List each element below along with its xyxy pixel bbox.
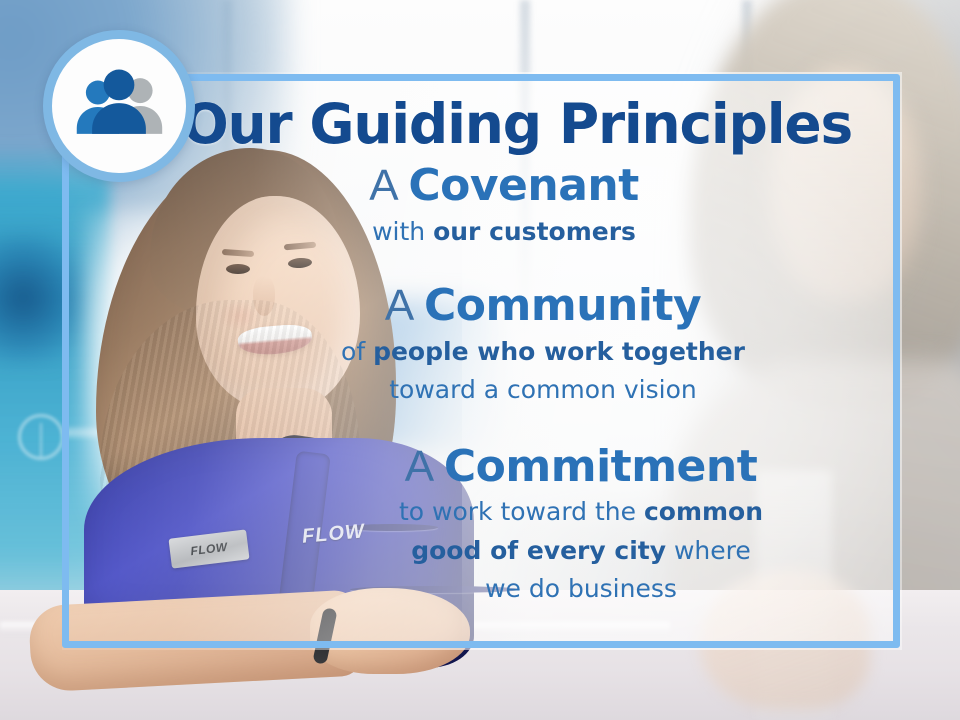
- principle-headline: A Commitment: [308, 443, 854, 491]
- principles-content: Our Guiding Principles A Covenant with o…: [62, 74, 900, 648]
- principle-detail-line: we do business: [308, 573, 854, 606]
- principle-detail-line: with our customers: [154, 216, 854, 249]
- principle-block-community: A Community of people who work together …: [62, 282, 854, 407]
- detail-text-emphasis: good of every city: [411, 536, 666, 565]
- principle-keyword: Covenant: [408, 160, 638, 211]
- principle-detail-line: of people who work together: [232, 336, 854, 369]
- guiding-principles-graphic: FLOW FLOW Our Guiding Principles A Coven…: [0, 0, 960, 720]
- principle-detail-line: toward a common vision: [232, 374, 854, 407]
- principle-article: A: [369, 161, 408, 210]
- detail-text: where: [666, 536, 751, 565]
- principle-headline: A Community: [232, 282, 854, 330]
- principle-article: A: [405, 442, 444, 491]
- detail-text: with: [372, 217, 433, 246]
- detail-text: to work toward the: [399, 497, 644, 526]
- principle-article: A: [385, 281, 424, 330]
- principle-keyword: Commitment: [444, 441, 757, 492]
- detail-text: toward a common vision: [389, 375, 696, 404]
- people-group-icon: [71, 58, 167, 154]
- principle-keyword: Community: [424, 280, 701, 331]
- detail-text: of: [341, 337, 373, 366]
- principle-headline: A Covenant: [154, 162, 854, 210]
- principle-detail-line: good of every city where: [308, 535, 854, 568]
- principle-detail-line: to work toward the common: [308, 496, 854, 529]
- principle-block-covenant: A Covenant with our customers: [62, 162, 854, 248]
- detail-text: we do business: [485, 574, 677, 603]
- detail-text-emphasis: common: [644, 497, 763, 526]
- detail-text-emphasis: people who work together: [373, 337, 745, 366]
- principle-block-commitment: A Commitment to work toward the common g…: [62, 443, 854, 606]
- people-group-badge: [43, 30, 195, 182]
- detail-text-emphasis: our customers: [433, 217, 636, 246]
- manufacturer-roundel-logo: [18, 414, 64, 460]
